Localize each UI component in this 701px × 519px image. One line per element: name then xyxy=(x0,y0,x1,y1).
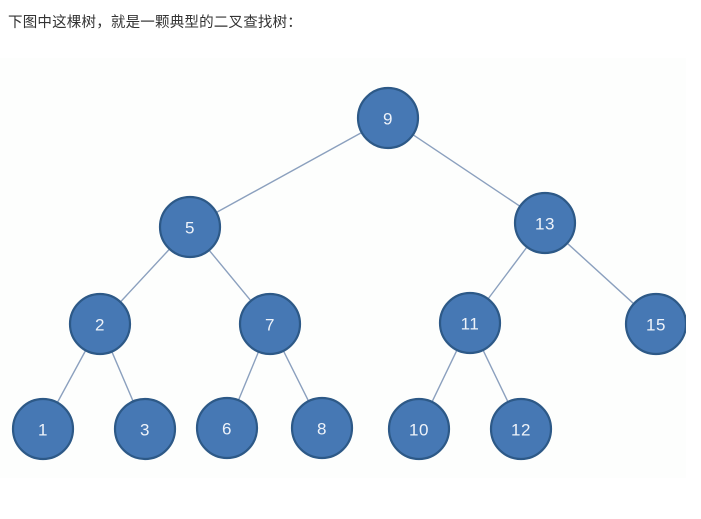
binary-search-tree-svg: 951327111513681012 xyxy=(0,58,686,478)
tree-node-13[interactable]: 13 xyxy=(515,193,575,253)
tree-figure: 951327111513681012 xyxy=(0,58,686,478)
tree-node-3[interactable]: 3 xyxy=(115,399,175,459)
node-label-6: 6 xyxy=(222,420,232,439)
tree-edge-13-15 xyxy=(567,243,634,304)
tree-edge-11-12 xyxy=(483,350,508,402)
tree-edge-5-2 xyxy=(120,249,169,302)
tree-edge-5-7 xyxy=(209,250,251,301)
tree-edges xyxy=(57,132,633,402)
tree-edge-13-11 xyxy=(488,247,527,299)
tree-edge-7-8 xyxy=(283,351,308,401)
node-label-13: 13 xyxy=(535,215,555,234)
tree-node-12[interactable]: 12 xyxy=(491,399,551,459)
tree-nodes: 951327111513681012 xyxy=(13,88,686,459)
tree-node-5[interactable]: 5 xyxy=(160,197,220,257)
tree-edge-9-13 xyxy=(413,135,520,207)
tree-edge-7-6 xyxy=(238,352,258,401)
tree-node-15[interactable]: 15 xyxy=(626,294,686,354)
node-label-15: 15 xyxy=(646,316,666,335)
node-label-1: 1 xyxy=(38,421,48,440)
node-label-5: 5 xyxy=(185,219,195,238)
node-label-11: 11 xyxy=(461,315,480,334)
node-label-2: 2 xyxy=(95,316,105,335)
node-label-3: 3 xyxy=(140,421,150,440)
page-caption: 下图中这棵树，就是一颗典型的二叉查找树： xyxy=(8,12,302,34)
node-label-10: 10 xyxy=(409,421,429,440)
tree-node-9[interactable]: 9 xyxy=(358,88,418,148)
tree-node-6[interactable]: 6 xyxy=(197,398,257,458)
tree-node-10[interactable]: 10 xyxy=(389,399,449,459)
node-label-12: 12 xyxy=(511,421,531,440)
tree-node-11[interactable]: 11 xyxy=(440,293,500,353)
node-label-8: 8 xyxy=(317,420,327,439)
tree-edge-9-5 xyxy=(216,132,361,212)
tree-node-1[interactable]: 1 xyxy=(13,399,73,459)
tree-node-8[interactable]: 8 xyxy=(292,398,352,458)
tree-edge-2-1 xyxy=(57,350,85,402)
tree-node-2[interactable]: 2 xyxy=(70,294,130,354)
tree-node-7[interactable]: 7 xyxy=(240,294,300,354)
tree-edge-11-10 xyxy=(432,350,457,402)
node-label-9: 9 xyxy=(383,110,393,129)
node-label-7: 7 xyxy=(265,316,275,335)
tree-edge-2-3 xyxy=(112,352,133,402)
